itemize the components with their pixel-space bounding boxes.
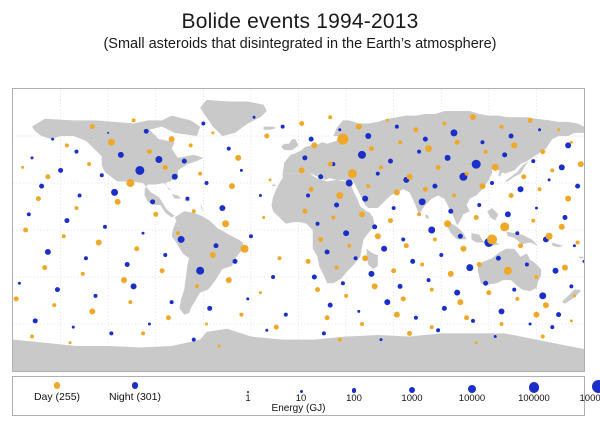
bolide-point-night bbox=[535, 207, 538, 210]
bolide-point-day bbox=[366, 184, 370, 188]
bolide-point-day bbox=[262, 216, 265, 219]
bolide-point-day bbox=[134, 246, 139, 251]
bolide-point-day bbox=[407, 331, 412, 336]
bolide-point-day bbox=[565, 196, 571, 202]
bolide-point-day bbox=[90, 124, 95, 129]
bolide-point-night bbox=[388, 159, 393, 164]
legend-class-label: Night (301) bbox=[109, 391, 161, 403]
bolide-point-night bbox=[316, 222, 320, 226]
bolide-point-day bbox=[479, 183, 485, 189]
bolide-point-day bbox=[470, 114, 476, 120]
page-subtitle: (Small asteroids that disintegrated in t… bbox=[0, 37, 600, 53]
bolide-point-day bbox=[475, 341, 478, 344]
bolide-point-night bbox=[553, 268, 559, 274]
bolide-point-day bbox=[576, 241, 580, 245]
legend-size-dot-wrap bbox=[558, 379, 600, 393]
bolide-point-day bbox=[226, 277, 232, 283]
bolide-point-night bbox=[109, 331, 113, 335]
bolide-point-day bbox=[344, 294, 348, 298]
bolide-point-day bbox=[557, 128, 560, 131]
bolide-point-night bbox=[569, 284, 573, 288]
bolide-point-day bbox=[176, 231, 180, 235]
bolide-point-night bbox=[39, 184, 44, 189]
bolide-point-night bbox=[334, 202, 339, 207]
bolide-point-day bbox=[328, 162, 333, 167]
bolide-point-night bbox=[559, 164, 565, 170]
bolide-point-night bbox=[94, 294, 98, 298]
bolide-point-day bbox=[404, 243, 409, 248]
bolide-point-day bbox=[126, 179, 134, 187]
bolide-point-day bbox=[309, 187, 314, 192]
bolide-point-day bbox=[87, 162, 91, 166]
bolide-point-night bbox=[196, 267, 204, 275]
bolide-point-day bbox=[562, 265, 568, 271]
bolide-point-night bbox=[240, 169, 243, 172]
bolide-point-night bbox=[346, 180, 353, 187]
bolide-point-night bbox=[410, 259, 415, 264]
bolide-point-day bbox=[302, 209, 307, 214]
bolide-point-day bbox=[160, 268, 165, 273]
bolide-point-night bbox=[436, 328, 440, 332]
bolide-point-day bbox=[492, 164, 499, 171]
bolide-point-day bbox=[559, 224, 565, 230]
bolide-point-day bbox=[375, 233, 381, 239]
bolide-point-day bbox=[153, 212, 158, 217]
bolide-point-day bbox=[328, 115, 332, 119]
bolide-point-day bbox=[169, 136, 175, 142]
bolide-point-night bbox=[343, 230, 349, 236]
bolide-point-day bbox=[335, 266, 339, 270]
bolide-point-night bbox=[172, 174, 178, 180]
bolide-point-night bbox=[51, 138, 54, 141]
bolide-point-night bbox=[111, 189, 118, 196]
bolide-point-night bbox=[498, 308, 504, 314]
bolide-point-day bbox=[499, 125, 503, 129]
bolide-point-night bbox=[233, 259, 238, 264]
bolide-point-night bbox=[144, 129, 149, 134]
bolide-point-day bbox=[195, 284, 199, 288]
bolide-point-day bbox=[423, 187, 428, 192]
bolide-point-day bbox=[369, 146, 374, 151]
bolide-point-day bbox=[534, 275, 538, 279]
bolide-point-night bbox=[100, 173, 104, 177]
bolide-point-day bbox=[360, 322, 364, 326]
bolide-point-night bbox=[205, 181, 209, 185]
bolide-point-night bbox=[354, 256, 358, 260]
bolide-point-day bbox=[69, 341, 72, 344]
page-title: Bolide events 1994-2013 bbox=[0, 10, 600, 33]
bolide-point-day bbox=[21, 166, 24, 169]
bolide-point-night bbox=[362, 196, 368, 202]
bolide-point-night bbox=[322, 331, 326, 335]
bolide-point-day bbox=[74, 206, 78, 210]
bolide-point-day bbox=[417, 212, 421, 216]
bolide-point-day bbox=[348, 169, 357, 178]
bolide-point-day bbox=[543, 302, 549, 308]
bolide-point-night bbox=[325, 249, 330, 254]
bolide-point-night bbox=[539, 292, 546, 299]
bolide-point-night bbox=[341, 281, 345, 285]
bolide-point-day bbox=[259, 291, 262, 294]
bolide-point-night bbox=[372, 224, 377, 229]
bolide-point-day bbox=[62, 234, 66, 238]
bolide-point-day bbox=[509, 193, 514, 198]
bolide-point-night bbox=[207, 306, 212, 311]
bolide-point-day bbox=[531, 219, 535, 223]
bolide-point-night bbox=[565, 142, 571, 148]
bolide-point-day bbox=[264, 133, 269, 138]
bolide-point-night bbox=[259, 194, 262, 197]
bolide-point-day bbox=[550, 168, 554, 172]
bolide-point-day bbox=[218, 344, 221, 347]
bolide-point-day bbox=[518, 243, 523, 248]
bolide-point-night bbox=[423, 137, 428, 142]
bolide-point-day bbox=[386, 119, 389, 122]
bolide-point-day bbox=[359, 211, 365, 217]
bolide-point-day bbox=[325, 315, 330, 320]
bolide-point-day bbox=[81, 272, 85, 276]
bolide-point-night bbox=[531, 159, 535, 163]
bolide-point-day bbox=[362, 255, 368, 261]
bolide-point-night bbox=[515, 231, 519, 235]
bolide-point-day bbox=[578, 161, 584, 167]
bolide-point-day bbox=[474, 215, 479, 220]
bolide-point-night bbox=[74, 150, 78, 154]
bolide-point-day bbox=[452, 194, 456, 198]
bolide-point-night bbox=[494, 335, 497, 338]
bolide-point-night bbox=[562, 215, 567, 220]
bolide-point-day bbox=[433, 237, 437, 241]
bolide-point-night bbox=[45, 249, 51, 255]
bolide-point-day bbox=[96, 240, 102, 246]
bolide-point-day bbox=[311, 142, 317, 148]
bolide-point-day bbox=[420, 262, 424, 266]
bolide-point-day bbox=[163, 165, 168, 170]
bolide-point-day bbox=[436, 165, 441, 170]
bolide-point-day bbox=[546, 233, 553, 240]
bolide-point-night bbox=[131, 283, 137, 289]
bolide-point-day bbox=[315, 287, 320, 292]
bolide-point-night bbox=[213, 243, 218, 248]
bolide-point-day bbox=[511, 142, 517, 148]
legend-size-dot-icon bbox=[592, 380, 600, 393]
bolide-point-night bbox=[395, 125, 399, 129]
bolide-point-night bbox=[575, 184, 580, 189]
bolide-point-night bbox=[249, 234, 253, 238]
bolide-point-day bbox=[52, 303, 56, 307]
bolide-point-night bbox=[439, 253, 443, 257]
legend-size-dot-icon bbox=[529, 382, 540, 393]
bolide-point-night bbox=[178, 236, 185, 243]
bolide-point-day bbox=[299, 121, 304, 126]
bolide-point-night bbox=[163, 253, 167, 257]
bolide-point-night bbox=[78, 194, 82, 198]
bolide-point-night bbox=[472, 160, 481, 169]
bolide-point-day bbox=[486, 290, 491, 295]
world-map-panel bbox=[12, 88, 585, 372]
bolide-point-day bbox=[541, 335, 545, 339]
bolide-point-night bbox=[368, 271, 374, 277]
bolide-point-night bbox=[502, 152, 507, 157]
bolide-point-night bbox=[185, 197, 189, 201]
bolide-point-day bbox=[455, 140, 460, 145]
bolide-point-day bbox=[166, 315, 171, 320]
bolide-point-day bbox=[444, 220, 451, 227]
bolide-point-night bbox=[380, 338, 383, 341]
bolide-point-night bbox=[428, 227, 435, 234]
bolide-point-day bbox=[198, 172, 202, 176]
bolide-point-night bbox=[27, 212, 31, 216]
bolide-point-day bbox=[89, 308, 95, 314]
bolide-point-day bbox=[128, 300, 132, 304]
bolide-point-night bbox=[427, 278, 431, 282]
bolide-point-night bbox=[450, 129, 457, 136]
legend-panel: Day (255)Night (301) 1101001000100001000… bbox=[12, 376, 585, 416]
bolide-point-day bbox=[331, 216, 335, 220]
bolide-point-night bbox=[357, 310, 360, 313]
bolide-point-night bbox=[392, 206, 396, 210]
bolide-point-night bbox=[58, 168, 63, 173]
bolide-point-day bbox=[442, 121, 446, 125]
bolide-point-day bbox=[269, 178, 272, 181]
bolide-point-day bbox=[277, 256, 281, 260]
bolide-point-night bbox=[432, 184, 437, 189]
bolide-point-night bbox=[466, 264, 473, 271]
bolide-point-day bbox=[538, 187, 542, 191]
bolide-point-day bbox=[222, 220, 229, 227]
bolide-point-night bbox=[318, 174, 323, 179]
bolide-point-day bbox=[515, 297, 519, 301]
legend-class-label: Day (255) bbox=[34, 391, 80, 403]
bolide-point-night bbox=[281, 125, 285, 129]
bolide-point-night bbox=[525, 262, 529, 266]
bolide-point-night bbox=[33, 318, 38, 323]
bolide-point-night bbox=[192, 338, 196, 342]
bolide-point-night bbox=[182, 159, 187, 164]
bolide-point-day bbox=[337, 134, 348, 145]
bolide-point-night bbox=[72, 326, 75, 329]
bolide-point-night bbox=[55, 287, 60, 292]
bolide-point-night bbox=[246, 297, 249, 300]
legend-size-1000000[interactable]: 1000000 bbox=[558, 379, 600, 404]
bolide-point-day bbox=[413, 127, 418, 132]
bolide-point-day bbox=[521, 174, 526, 179]
bolide-point-day bbox=[36, 196, 41, 201]
bolide-point-night bbox=[135, 166, 144, 175]
bolide-point-day bbox=[205, 323, 208, 326]
bolide-point-night bbox=[31, 156, 34, 159]
bolide-point-night bbox=[398, 284, 403, 289]
bolide-point-day bbox=[477, 262, 482, 267]
bolide-point-day bbox=[336, 192, 343, 199]
bolide-point-day bbox=[132, 118, 136, 122]
bolide-point-day bbox=[235, 155, 241, 161]
bolide-point-day bbox=[484, 150, 488, 154]
bolide-point-day bbox=[372, 283, 378, 289]
bolide-point-day bbox=[141, 331, 145, 335]
bolide-point-day bbox=[241, 245, 249, 253]
bolide-point-night bbox=[458, 234, 463, 239]
bolide-point-day bbox=[147, 149, 152, 154]
legend-size-dot-icon bbox=[468, 385, 476, 393]
bolide-point-night bbox=[64, 218, 69, 223]
bolide-point-day bbox=[338, 338, 342, 342]
bolide-point-night bbox=[550, 325, 554, 329]
bolide-point-night bbox=[150, 199, 155, 204]
bolide-point-night bbox=[84, 256, 88, 260]
bolide-point-night bbox=[556, 312, 561, 317]
bolide-point-night bbox=[125, 262, 130, 267]
bolide-point-day bbox=[394, 189, 400, 195]
bolide-point-day bbox=[189, 143, 193, 147]
bolide-point-day bbox=[299, 167, 305, 173]
bolide-point-day bbox=[528, 118, 533, 123]
bolide-point-night bbox=[518, 186, 524, 192]
legend-dot-icon bbox=[54, 382, 61, 389]
bolide-point-night bbox=[573, 244, 576, 247]
bolide-point-day bbox=[540, 149, 545, 154]
bolide-point-night bbox=[419, 198, 426, 205]
bolide-point-night bbox=[338, 128, 341, 131]
bolide-point-day bbox=[192, 209, 196, 213]
bolide-point-night bbox=[328, 303, 333, 308]
bolide-point-night bbox=[529, 323, 532, 326]
legend-class-day[interactable]: Day (255) bbox=[12, 382, 102, 403]
legend-class-night[interactable]: Night (301) bbox=[90, 382, 180, 403]
bolide-point-day bbox=[464, 315, 469, 320]
bolide-point-day bbox=[210, 252, 216, 258]
bolide-point-night bbox=[306, 194, 310, 198]
bolide-point-night bbox=[417, 150, 421, 154]
bolide-point-night bbox=[265, 329, 268, 332]
bolide-point-night bbox=[512, 288, 516, 292]
bolide-point-day bbox=[401, 296, 406, 301]
bolide-point-night bbox=[227, 147, 231, 151]
bolide-point-night bbox=[414, 316, 418, 320]
bolide-point-day bbox=[457, 299, 463, 305]
bolide-point-night bbox=[496, 256, 501, 261]
bolide-point-night bbox=[483, 281, 488, 286]
bolide-point-day bbox=[504, 267, 512, 275]
bolide-point-day bbox=[425, 145, 432, 152]
bolide-point-night bbox=[18, 282, 21, 285]
bolide-point-night bbox=[454, 290, 460, 296]
bolide-point-night bbox=[445, 155, 451, 161]
bolide-point-day bbox=[274, 325, 279, 330]
bolide-point-day bbox=[115, 199, 121, 205]
bolide-point-day bbox=[379, 165, 383, 169]
bolide-point-night bbox=[201, 121, 205, 125]
bolide-point-day bbox=[239, 313, 243, 317]
bolide-point-day bbox=[211, 131, 214, 134]
bolide-point-day bbox=[430, 325, 434, 329]
bolide-point-day bbox=[388, 218, 393, 223]
bolide-point-night bbox=[505, 211, 511, 217]
bolide-point-night bbox=[155, 156, 162, 163]
bolide-point-night bbox=[142, 232, 145, 235]
bolide-point-night bbox=[148, 323, 151, 326]
bolide-point-night bbox=[118, 152, 124, 158]
bolide-point-day bbox=[14, 296, 19, 301]
bolide-point-day bbox=[500, 222, 509, 231]
bolide-point-night bbox=[480, 140, 484, 144]
bolide-point-day bbox=[533, 312, 539, 318]
bolide-point-day bbox=[318, 237, 323, 242]
bolide-point-day bbox=[347, 244, 351, 248]
bolide-point-night bbox=[442, 306, 447, 311]
bolide-point-night bbox=[365, 133, 371, 139]
bolide-point-day bbox=[487, 234, 497, 244]
bolide-point-night bbox=[309, 137, 314, 142]
bolide-point-night bbox=[103, 225, 107, 229]
bolide-point-night bbox=[384, 299, 390, 305]
bolide-point-night bbox=[477, 203, 481, 207]
bolide-point-night bbox=[253, 116, 256, 119]
bolide-point-day bbox=[65, 143, 69, 147]
bolide-point-day bbox=[407, 174, 413, 180]
bolide-point-day bbox=[499, 322, 503, 326]
bolide-point-day bbox=[45, 174, 50, 179]
bolide-point-day bbox=[460, 246, 466, 252]
bolide-point-night bbox=[312, 274, 317, 279]
legend-dot-icon bbox=[132, 382, 139, 389]
bolide-point-day bbox=[398, 140, 402, 144]
bolide-point-night bbox=[448, 209, 453, 214]
bolide-point-day bbox=[121, 277, 127, 283]
bolide-point-night bbox=[381, 246, 387, 252]
bolide-point-night bbox=[271, 275, 275, 279]
bolide-point-day bbox=[356, 124, 362, 130]
bolide-point-day bbox=[570, 141, 573, 144]
bolide-point-night bbox=[471, 319, 475, 323]
energy-axis-label: Energy (GJ) bbox=[13, 403, 584, 414]
bolide-point-day bbox=[448, 271, 454, 277]
bolide-point-night bbox=[509, 133, 514, 138]
bolide-point-night bbox=[358, 151, 366, 159]
bolide-point-day bbox=[570, 319, 573, 322]
bolide-point-day bbox=[465, 172, 469, 176]
bolide-point-night bbox=[548, 178, 551, 181]
bolide-point-day bbox=[229, 183, 235, 189]
bolide-point-day bbox=[573, 294, 576, 297]
bolide-point-night bbox=[170, 300, 174, 304]
bolide-point-night bbox=[376, 172, 380, 176]
bolide-point-night bbox=[107, 132, 109, 134]
bolide-point-night bbox=[219, 205, 225, 211]
bolide-point-day bbox=[391, 268, 396, 273]
bolide-point-day bbox=[108, 139, 115, 146]
bolide-point-night bbox=[490, 181, 494, 185]
bolide-point-day bbox=[394, 312, 400, 318]
bolide-point-night bbox=[401, 237, 405, 241]
bolide-point-day bbox=[23, 228, 28, 233]
bolide-scatter-map bbox=[13, 89, 584, 371]
bolide-point-day bbox=[306, 259, 311, 264]
bolide-point-night bbox=[284, 313, 288, 317]
bolide-point-day bbox=[430, 288, 434, 292]
bolide-point-day bbox=[30, 335, 34, 339]
bolide-point-night bbox=[302, 155, 307, 160]
bolide-point-day bbox=[42, 265, 47, 270]
bolide-point-night bbox=[538, 128, 541, 131]
